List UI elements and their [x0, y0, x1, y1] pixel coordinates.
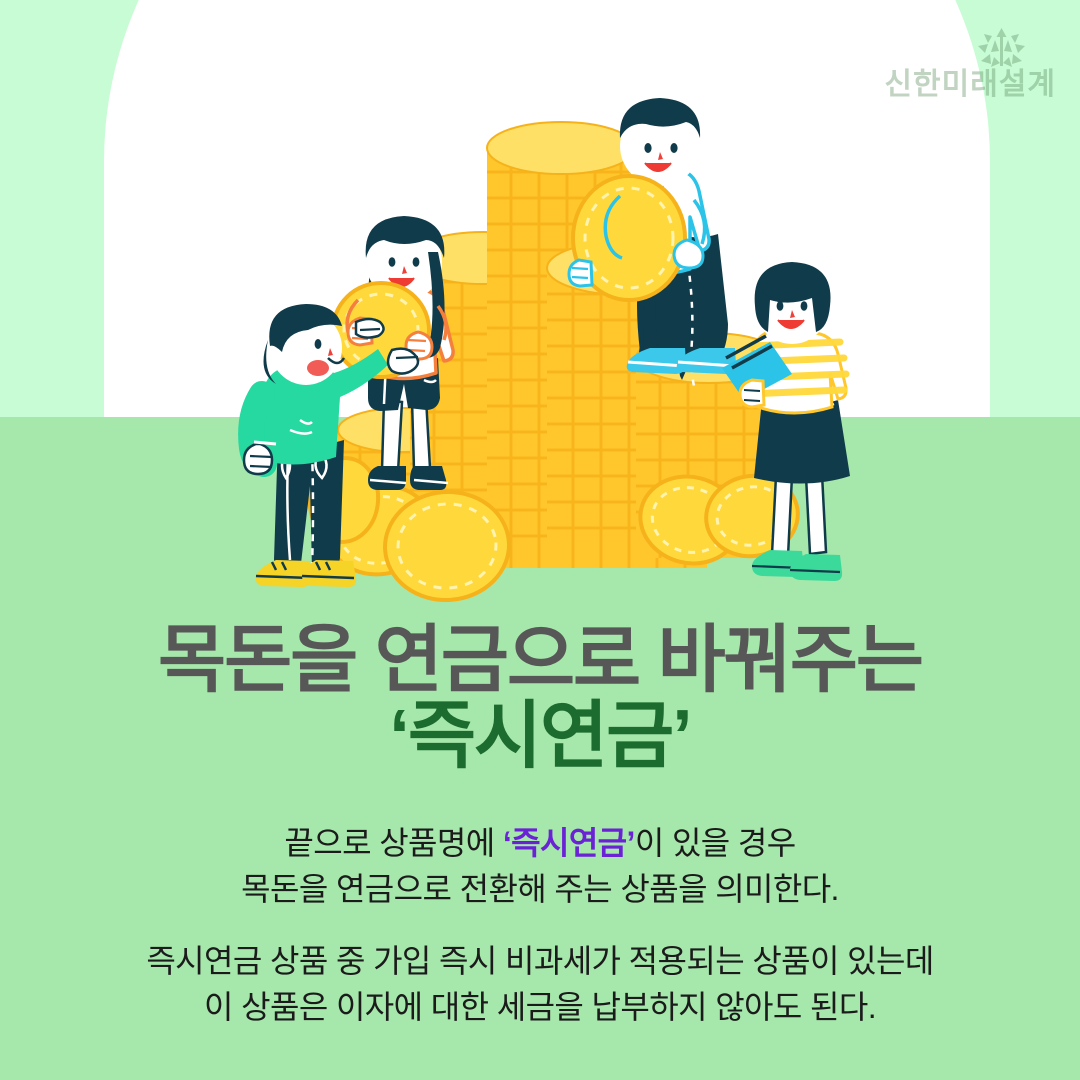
shinhan-mirae-seolgye-logo: 신한미래설계: [880, 24, 1056, 102]
logo-wordmark: 신한미래설계: [880, 70, 1056, 100]
p1-text-after: 이 있을 경우: [635, 825, 796, 861]
paragraph-2-line-1: 즉시연금 상품 중 가입 즉시 비과세가 적용되는 상품이 있는데: [0, 938, 1080, 984]
headline-line-1: 목돈을 연금으로 바꿔주는: [0, 622, 1080, 698]
tree-emblem-icon: [978, 28, 1025, 67]
paragraph-1-line-1: 끝으로 상품명에 ‘즉시연금’이 있을 경우: [0, 820, 1080, 866]
page-title: 목돈을 연금으로 바꿔주는 ‘즉시연금’: [0, 622, 1080, 774]
body-paragraph-1: 끝으로 상품명에 ‘즉시연금’이 있을 경우 목돈을 연금으로 전환해 주는 상…: [0, 820, 1080, 913]
poster-card: 신한미래설계 목돈을 연금으로 바꿔주는 ‘즉시연금’ 끝으로 상품명에 ‘즉시…: [0, 0, 1080, 1080]
paragraph-2-line-2: 이 상품은 이자에 대한 세금을 납부하지 않아도 된다.: [0, 984, 1080, 1030]
body-paragraph-2: 즉시연금 상품 중 가입 즉시 비과세가 적용되는 상품이 있는데 이 상품은 …: [0, 938, 1080, 1031]
p1-text-before: 끝으로 상품명에: [284, 825, 502, 861]
p1-highlight-term: ‘즉시연금’: [503, 825, 635, 861]
paragraph-1-line-2: 목돈을 연금으로 전환해 주는 상품을 의미한다.: [0, 866, 1080, 912]
headline-line-2: ‘즉시연금’: [0, 698, 1080, 774]
sneaker-yellow-right: [302, 560, 356, 587]
